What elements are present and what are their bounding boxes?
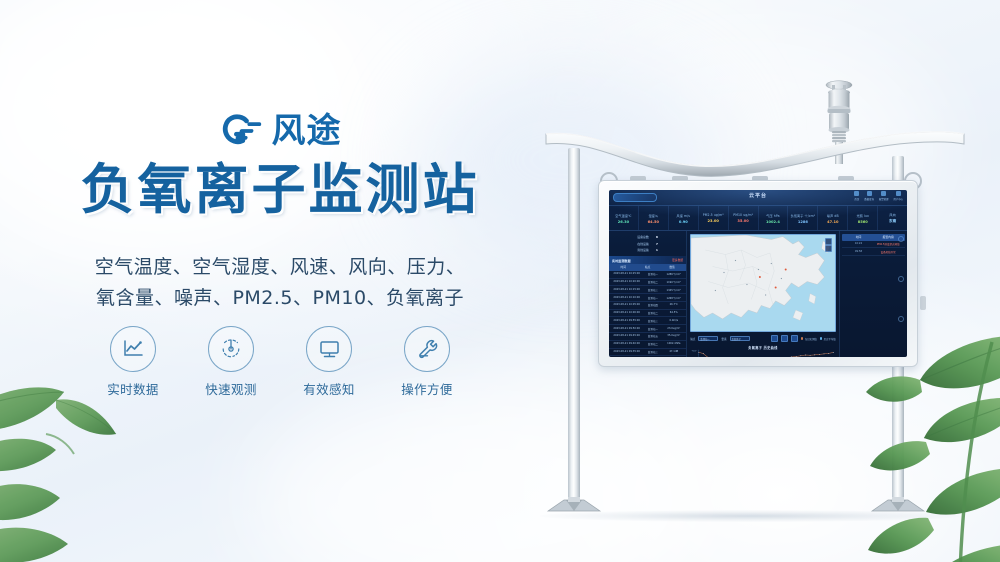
device-stat-row: 在线设备7: [612, 242, 683, 246]
device-stat-value: 8: [656, 235, 658, 239]
device-stat-label: 在线设备: [637, 242, 649, 246]
device-stat-label: 设备总数: [637, 235, 649, 239]
chart-view-day-button[interactable]: [771, 335, 778, 342]
brand-logo: 风途: [0, 112, 560, 150]
device-stat-list: 设备总数8在线设备7离线设备1: [609, 231, 686, 256]
table-cell: 监测站一: [642, 296, 663, 300]
table-more-link[interactable]: 更多数据: [672, 258, 683, 262]
factor-filter-label: 要素: [721, 337, 726, 341]
table-column-headers: 时间站点数值: [609, 264, 686, 271]
legend-label: 历史平均值: [824, 337, 836, 341]
right-panel: 时间报警内容 10:24PM2.5浓度超过阈值09:58设备离线异常: [839, 231, 907, 357]
device-stat-row: 离线设备1: [612, 248, 683, 252]
table-cell: 监测站三: [642, 350, 663, 354]
ground-shadow: [540, 510, 960, 522]
display-cabinet: 云平台 首页 数据查询 报警管理: [598, 180, 918, 367]
feature-item-realtime-data[interactable]: 实时数据: [97, 326, 169, 398]
alarm-table-header: 时间报警内容: [842, 234, 905, 241]
table-cell: 0.9m/s: [663, 319, 684, 323]
feature-item-fast-observation[interactable]: 快速观测: [195, 326, 267, 398]
map-graphic: [691, 235, 834, 331]
subtitle: 空气温度、空气湿度、风速、风向、压力、 氧含量、噪声、PM2.5、PM10、负氧…: [0, 252, 560, 314]
feature-item-easy-operation[interactable]: 操作方便: [391, 326, 463, 398]
base-plate-left: [546, 497, 602, 513]
radar-signal-icon: [208, 326, 254, 372]
panel-node-marker: [898, 236, 904, 242]
alarm-column-header: 时间: [844, 235, 874, 239]
table-cell: 1345个/cm³: [663, 288, 684, 292]
table-cell: 2023-08-21 10:20:00: [611, 280, 642, 284]
chart-view-month-button[interactable]: [791, 335, 798, 342]
data-table-header: 实时监测数据 更多数据: [609, 256, 686, 264]
table-cell: 监测站一: [642, 272, 663, 276]
table-cell: 64.5%: [663, 311, 684, 315]
map-zoom-in-button[interactable]: [825, 238, 832, 245]
table-row[interactable]: 2023-08-21 10:15:00监测站三1345个/cm³: [609, 286, 686, 294]
table-cell: 2023-08-21 10:25:00: [611, 272, 642, 276]
site-filter-select[interactable]: 监测站一: [698, 336, 718, 341]
factor-filter-select[interactable]: 负氧离子: [730, 336, 750, 341]
table-row[interactable]: 2023-08-21 09:40:00监测站二1002.4hPa: [609, 341, 686, 349]
table-cell: 2023-08-21 10:00:00: [611, 311, 642, 315]
line-chart-icon: [110, 326, 156, 372]
chart-legend-item: 当日实测值: [801, 337, 817, 341]
toolbar-label: 数据查询: [864, 197, 874, 201]
wind-g-logo-icon: [219, 112, 263, 150]
factor-filter-value: 负氧离子: [732, 337, 741, 341]
table-cell: 1268个/cm³: [663, 296, 684, 300]
alarm-row[interactable]: 09:58设备离线异常: [842, 248, 905, 256]
table-cell: 1286个/cm³: [663, 272, 684, 276]
table-row[interactable]: 2023-08-21 09:35:00监测站三47.1dB: [609, 349, 686, 357]
table-cell: 47.1dB: [663, 350, 684, 354]
table-cell: 2023-08-21 09:40:00: [611, 342, 642, 346]
table-cell: 监测站三: [642, 288, 663, 292]
device-stat-value: 1: [656, 248, 658, 252]
user-icon: [896, 191, 901, 196]
table-row[interactable]: 2023-08-21 09:55:00监测站三0.9m/s: [609, 317, 686, 325]
table-cell: 2023-08-21 09:35:00: [611, 350, 642, 354]
table-row[interactable]: 2023-08-21 10:10:00监测站一1268个/cm³: [609, 294, 686, 302]
table-cell: 2023-08-21 10:05:00: [611, 303, 642, 307]
table-cell: 监测站二: [642, 311, 663, 315]
table-row[interactable]: 2023-08-21 09:45:00监测站五35.0ug/m³: [609, 333, 686, 341]
feature-label: 操作方便: [401, 379, 453, 398]
chart-title: 负氧离子 历史曲线: [690, 345, 835, 350]
toolbar-item-data[interactable]: 数据查询: [864, 191, 874, 201]
table-cell: 2023-08-21 10:15:00: [611, 288, 642, 292]
monitor-icon: [306, 326, 352, 372]
table-row[interactable]: 2023-08-21 09:30:00监测站六8560lux: [609, 356, 686, 357]
table-body: 2023-08-21 10:25:00监测站一1286个/cm³2023-08-…: [609, 271, 686, 357]
alarm-table-body: 10:24PM2.5浓度超过阈值09:58设备离线异常: [842, 241, 905, 256]
site-filter-value: 监测站一: [700, 337, 709, 341]
feature-label: 实时数据: [107, 379, 159, 398]
wrench-icon: [404, 326, 450, 372]
table-cell: 监测站三: [642, 319, 663, 323]
table-cell: 监测站四: [642, 303, 663, 307]
table-cell: 监测站一: [642, 327, 663, 331]
feature-label: 快速观测: [205, 379, 257, 398]
legend-swatch: [820, 337, 823, 340]
table-row[interactable]: 2023-08-21 10:20:00监测站二1190个/cm³: [609, 279, 686, 287]
monitoring-station-device: 云平台 首页 数据查询 报警管理: [520, 60, 990, 530]
china-map[interactable]: [690, 234, 835, 332]
dashboard-header: 云平台 首页 数据查询 报警管理: [609, 190, 907, 205]
device-stat-row: 设备总数8: [612, 235, 683, 239]
promo-banner: 风途 负氧离子监测站 空气温度、空气湿度、风速、风向、压力、 氧含量、噪声、PM…: [0, 0, 1000, 562]
table-cell: 2023-08-21 10:10:00: [611, 296, 642, 300]
table-column-header: 站点: [635, 265, 659, 269]
table-row[interactable]: 2023-08-21 10:00:00监测站二64.5%: [609, 310, 686, 318]
site-filter-label: 站点: [690, 337, 695, 341]
home-icon: [854, 191, 859, 196]
device-stat-value: 7: [656, 242, 658, 246]
table-cell: 26.7℃: [663, 303, 684, 307]
toolbar-label: 用户中心: [893, 197, 903, 201]
table-column-header: 时间: [611, 265, 635, 269]
device-stat-label: 离线设备: [637, 248, 649, 252]
toolbar-item-user[interactable]: 用户中心: [893, 191, 903, 201]
alarm-icon: [881, 191, 886, 196]
table-row[interactable]: 2023-08-21 10:05:00监测站四26.7℃: [609, 302, 686, 310]
table-title: 实时监测数据: [612, 258, 631, 263]
page-title: 负氧离子监测站: [0, 160, 560, 220]
legend-label: 当日实测值: [805, 337, 817, 341]
feature-label: 有效感知: [303, 379, 355, 398]
table-row[interactable]: 2023-08-21 10:25:00监测站一1286个/cm³: [609, 271, 686, 279]
table-cell: 监测站二: [642, 280, 663, 284]
toolbar-label: 报警管理: [879, 197, 889, 201]
feature-item-effective-sensing[interactable]: 有效感知: [293, 326, 365, 398]
chart-controls: 站点 监测站一 要素 负氧离子: [690, 334, 835, 343]
toolbar-label: 首页: [854, 197, 859, 201]
table-column-header: 数值: [660, 265, 684, 269]
brand-name: 风途: [272, 114, 342, 148]
cabinet-side-button[interactable]: [920, 296, 926, 310]
table-cell: 监测站二: [642, 342, 663, 346]
map-zoom-out-button[interactable]: [825, 245, 832, 252]
s-curve-canopy: [540, 108, 970, 178]
table-cell: 1190个/cm³: [663, 280, 684, 284]
dashboard-body: 设备总数8在线设备7离线设备1 实时监测数据 更多数据 时间站点数值 2023-…: [609, 231, 907, 357]
alarm-row[interactable]: 10:24PM2.5浓度超过阈值: [842, 241, 905, 249]
dashboard-toolbar: 首页 数据查询 报警管理 用户中心: [854, 191, 903, 201]
left-panel: 设备总数8在线设备7离线设备1 实时监测数据 更多数据 时间站点数值 2023-…: [609, 231, 687, 357]
feature-list: 实时数据 快速观测: [0, 326, 560, 398]
table-cell: 监测站五: [642, 334, 663, 338]
subtitle-line-1: 空气温度、空气湿度、风速、风向、压力、: [0, 252, 560, 283]
alarm-cell: PM2.5浓度超过阈值: [873, 242, 903, 246]
chart-legend-item: 历史平均值: [820, 337, 836, 341]
subtitle-line-2: 氧含量、噪声、PM2.5、PM10、负氧离子: [0, 283, 560, 314]
alarm-cell: 设备离线异常: [873, 250, 903, 254]
center-panel: 站点 监测站一 要素 负氧离子: [687, 231, 838, 357]
table-cell: 2023-08-21 09:45:00: [611, 334, 642, 338]
table-cell: 2023-08-21 09:50:00: [611, 327, 642, 331]
support-pole-left: [568, 148, 580, 503]
table-cell: 1002.4hPa: [663, 342, 684, 346]
panel-node-marker: [898, 276, 904, 282]
table-cell: 2023-08-21 09:55:00: [611, 319, 642, 323]
dashboard-screen[interactable]: 云平台 首页 数据查询 报警管理: [609, 190, 907, 357]
data-icon: [867, 191, 872, 196]
history-line-chart[interactable]: 负氧离子 历史曲线 个/cm³00:0001:0002:0003:0004:00…: [690, 345, 835, 357]
toolbar-item-home[interactable]: 首页: [854, 191, 859, 201]
panel-node-marker: [898, 316, 904, 322]
alarm-cell: 09:58: [844, 250, 874, 254]
chart-view-week-button[interactable]: [781, 335, 788, 342]
legend-swatch: [801, 337, 804, 340]
alarm-cell: 10:24: [844, 242, 874, 246]
table-cell: 35.0ug/m³: [663, 334, 684, 338]
table-row[interactable]: 2023-08-21 09:50:00监测站一23.0ug/m³: [609, 325, 686, 333]
toolbar-item-alarm[interactable]: 报警管理: [879, 191, 889, 201]
marketing-copy: 风途 负氧离子监测站 空气温度、空气湿度、风速、风向、压力、 氧含量、噪声、PM…: [0, 0, 560, 562]
table-cell: 23.0ug/m³: [663, 327, 684, 331]
